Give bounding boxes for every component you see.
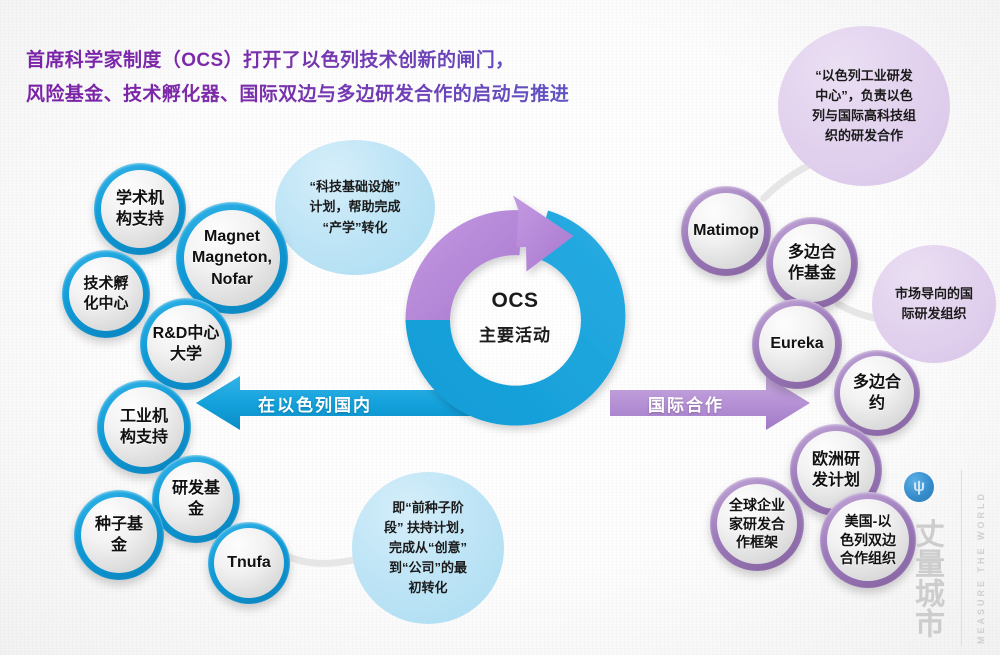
node-label: 技术孵化中心 <box>69 257 143 331</box>
node-label: Tnufa <box>214 528 284 598</box>
node-label-line: 约 <box>869 393 885 414</box>
node-label-line: Magneton, <box>192 247 272 268</box>
node-label-line: 构支持 <box>116 209 164 230</box>
node-label-line: Magnet <box>204 226 260 247</box>
market-oriented-callout: 市场导向的国际研发组织 <box>872 245 996 363</box>
node-global-framework[interactable]: 全球企业家研发合作框架 <box>710 477 804 571</box>
node-label: 工业机构支持 <box>104 387 184 467</box>
watermark-chinese: 丈量城市 <box>898 508 942 648</box>
node-label-line: 研发基 <box>172 478 220 499</box>
node-label-line: 技术孵 <box>83 274 128 294</box>
callout-line: “科技基础设施” <box>309 177 400 197</box>
watermark-english: MEASURE THE WORLD <box>976 472 986 644</box>
node-eureka[interactable]: Eureka <box>752 299 842 389</box>
infrastructure-callout: “科技基础设施”计划，帮助完成“产学”转化 <box>275 140 435 275</box>
node-label-line: 金 <box>111 535 127 556</box>
node-label-line: 多边合 <box>788 242 836 263</box>
node-label-line: 发计划 <box>812 470 860 491</box>
node-label-line: 工业机 <box>120 406 168 427</box>
callout-line: “以色列工业研发 <box>815 66 913 86</box>
page-title: 首席科学家制度（OCS）打开了以色列技术创新的闸门， 风险基金、技术孵化器、国际… <box>26 44 569 112</box>
title-line-1: 首席科学家制度（OCS）打开了以色列技术创新的闸门， <box>26 44 569 78</box>
node-label-line: R&D中心 <box>153 323 220 344</box>
callout-line: 际研发组织 <box>901 304 966 324</box>
watermark-logo-icon: ψ <box>904 472 934 502</box>
node-label-line: 化中心 <box>83 294 128 314</box>
callout-line: 初转化 <box>408 578 447 598</box>
node-label-line: Eureka <box>770 333 823 354</box>
node-rnd-centers[interactable]: R&D中心大学 <box>140 298 232 390</box>
node-label-line: Matimop <box>693 220 759 241</box>
node-tnufa[interactable]: Tnufa <box>208 522 290 604</box>
node-multilateral-fund[interactable]: 多边合作基金 <box>766 217 858 309</box>
node-label: Matimop <box>688 193 764 269</box>
callout-line: “产学”转化 <box>322 218 387 238</box>
node-magnet-programs[interactable]: MagnetMagneton,Nofar <box>176 202 288 314</box>
node-label-line: Nofar <box>211 269 253 290</box>
watermark-divider <box>961 470 962 646</box>
node-label-line: Tnufa <box>227 552 271 573</box>
callout-line: 中心”，负责以色 <box>815 86 913 106</box>
node-label-line: 作基金 <box>788 263 836 284</box>
node-label-line: 学术机 <box>116 188 164 209</box>
node-label: 种子基金 <box>81 497 157 573</box>
callout-line: 市场导向的国 <box>895 284 973 304</box>
node-label-line: 家研发合 <box>729 515 785 533</box>
node-label-line: 构支持 <box>120 427 168 448</box>
israel-industry-rnd-callout: “以色列工业研发中心”，负责以色列与国际高科技组织的研发合作 <box>778 26 950 186</box>
node-label: 研发基金 <box>159 462 233 536</box>
node-label-line: 多边合 <box>853 372 901 393</box>
node-label-line: 大学 <box>170 344 202 365</box>
callout-line: 即“前种子阶 <box>392 498 464 518</box>
node-matimop[interactable]: Matimop <box>681 186 771 276</box>
node-label-line: 全球企业 <box>729 496 785 514</box>
title-line-2: 风险基金、技术孵化器、国际双边与多边研发合作的启动与推进 <box>26 78 569 112</box>
node-academic-support[interactable]: 学术机构支持 <box>94 163 186 255</box>
node-label: Eureka <box>759 306 835 382</box>
callout-line: 计划，帮助完成 <box>309 197 400 217</box>
node-label: 全球企业家研发合作框架 <box>717 484 797 564</box>
node-label: 学术机构支持 <box>101 170 179 248</box>
node-label: MagnetMagneton,Nofar <box>184 210 280 306</box>
node-label: 多边合作基金 <box>773 224 851 302</box>
diagram-canvas: 首席科学家制度（OCS）打开了以色列技术创新的闸门， 风险基金、技术孵化器、国际… <box>0 0 1000 655</box>
watermark: ψ 丈量城市 MEASURE THE WORLD <box>884 464 992 649</box>
callout-line: 织的研发合作 <box>825 126 903 146</box>
callout-line: 完成从“创意” <box>389 538 467 558</box>
node-seed-fund[interactable]: 种子基金 <box>74 490 164 580</box>
callout-line: 列与国际高科技组 <box>812 106 916 126</box>
callout-line: 段” 扶持计划， <box>384 518 472 538</box>
preseed-callout: 即“前种子阶段” 扶持计划，完成从“创意”到“公司”的最初转化 <box>352 472 504 624</box>
callout-line: 到“公司”的最 <box>389 558 467 578</box>
node-label: 多边合约 <box>840 356 914 430</box>
node-label: R&D中心大学 <box>147 305 225 383</box>
node-label-line: 作框架 <box>736 533 778 551</box>
node-label-line: 欧洲研 <box>812 449 860 470</box>
node-label-line: 金 <box>188 499 204 520</box>
node-tech-incubators[interactable]: 技术孵化中心 <box>62 250 150 338</box>
node-label-line: 种子基 <box>95 514 143 535</box>
node-multilateral-pact[interactable]: 多边合约 <box>834 350 920 436</box>
